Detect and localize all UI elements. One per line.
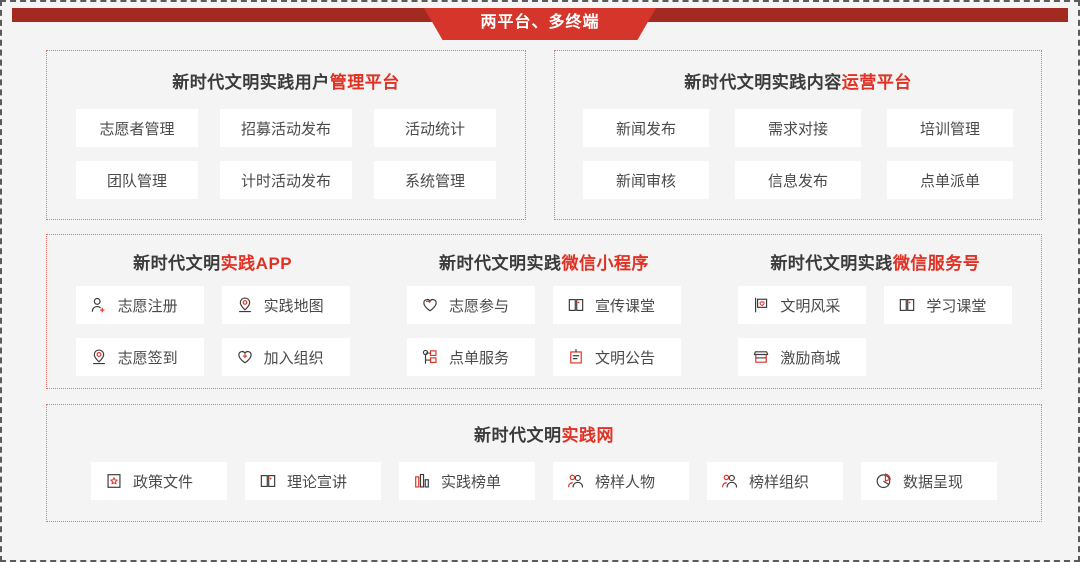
content-platform-tiles: 新闻发布 需求对接 培训管理 新闻审核 信息发布 点单派单 [555, 109, 1041, 199]
tile-label: 实践地图 [264, 295, 324, 316]
slot: 志愿签到 [76, 338, 204, 376]
tile-label: 文明风采 [780, 295, 840, 316]
tile-timed-activity-publish[interactable]: 计时活动发布 [220, 161, 352, 199]
tile-civilization-style[interactable]: 文明风采 [738, 286, 866, 324]
tile-row: 新闻审核 信息发布 点单派单 [555, 161, 1041, 199]
header-ribbon: 两平台、多终端 [424, 8, 656, 40]
tile-recruit-activity-publish[interactable]: 招募活动发布 [220, 109, 352, 147]
title-plain: 新时代文明实践内容 [684, 73, 842, 92]
title-plain: 新时代文明实践 [439, 254, 562, 273]
apps-headings: 新时代文明实践APP 新时代文明实践微信小程序 新时代文明实践微信服务号 [47, 249, 1041, 274]
tile-row: 志愿参与 宣传课堂 [407, 286, 681, 324]
title-plain: 新时代文明实践用户 [172, 73, 330, 92]
tile-row: 志愿注册 实践地图 [76, 286, 350, 324]
panel-user-platform: 新时代文明实践用户管理平台 志愿者管理 招募活动发布 活动统计 团队管理 计时活… [46, 50, 526, 220]
tile-label: 理论宣讲 [287, 471, 347, 492]
title-highlight: 运营平台 [842, 73, 912, 92]
slot: 文明风采 [738, 286, 866, 324]
tile-data-presentation[interactable]: 数据呈现 [861, 462, 997, 500]
tile-label: 实践榜单 [441, 471, 501, 492]
tile-role-model-organization[interactable]: 榜样组织 [707, 462, 843, 500]
flag-heart-icon [752, 296, 770, 314]
website-tiles: 政策文件 理论宣讲 实践榜单 榜样人物 [47, 462, 1041, 500]
tile-volunteer-register[interactable]: 志愿注册 [76, 286, 204, 324]
tile-label: 点单服务 [449, 347, 509, 368]
bar-chart-icon [413, 472, 431, 490]
tile-study-classroom[interactable]: 学习课堂 [884, 286, 1012, 324]
tile-news-review[interactable]: 新闻审核 [583, 161, 709, 199]
pie-chart-icon [875, 472, 893, 490]
two-people-icon [567, 472, 585, 490]
open-book-icon [567, 296, 585, 314]
tile-join-organization[interactable]: 加入组织 [222, 338, 350, 376]
title-plain: 新时代文明 [474, 426, 562, 445]
slot: 激励商城 [738, 338, 866, 376]
apps-heading-app: 新时代文明实践APP [47, 249, 378, 274]
apps-column-app: 志愿注册 实践地图 [47, 286, 378, 376]
location-check-icon [90, 348, 108, 366]
tile-label: 志愿签到 [118, 347, 178, 368]
panel-website: 新时代文明实践网 政策文件 理论宣讲 实践榜单 [46, 404, 1042, 522]
apps-column-miniprogram: 志愿参与 宣传课堂 [378, 286, 709, 376]
tile-label: 加入组织 [264, 347, 324, 368]
shop-icon [752, 348, 770, 366]
tile-label: 志愿参与 [449, 295, 509, 316]
tile-publicity-classroom[interactable]: 宣传课堂 [553, 286, 681, 324]
tile-row: 新闻发布 需求对接 培训管理 [555, 109, 1041, 147]
tile-incentive-mall[interactable]: 激励商城 [738, 338, 866, 376]
tile-practice-map[interactable]: 实践地图 [222, 286, 350, 324]
title-plain: 新时代文明实践 [770, 254, 893, 273]
tile-row: 文明风采 学习课堂 [738, 286, 1012, 324]
tile-demand-matching[interactable]: 需求对接 [735, 109, 861, 147]
header-title: 两平台、多终端 [480, 15, 599, 33]
panel-content-platform-title: 新时代文明实践内容运营平台 [555, 68, 1041, 93]
tile-row: 点单服务 文明公告 [407, 338, 681, 376]
tile-system-management[interactable]: 系统管理 [374, 161, 496, 199]
tile-practice-ranking[interactable]: 实践榜单 [399, 462, 535, 500]
tile-order-service[interactable]: 点单服务 [407, 338, 535, 376]
title-highlight: 微信小程序 [561, 254, 649, 273]
tile-row: 激励商城 [738, 338, 1012, 376]
two-people-icon [721, 472, 739, 490]
tile-activity-statistics[interactable]: 活动统计 [374, 109, 496, 147]
tile-policy-document[interactable]: 政策文件 [91, 462, 227, 500]
slot: 宣传课堂 [553, 286, 681, 324]
person-add-icon [90, 296, 108, 314]
tile-label: 学习课堂 [926, 295, 986, 316]
title-highlight: 实践网 [562, 426, 615, 445]
slot: 实践地图 [222, 286, 350, 324]
slot: 志愿参与 [407, 286, 535, 324]
tile-role-model-person[interactable]: 榜样人物 [553, 462, 689, 500]
title-highlight: 管理平台 [330, 73, 400, 92]
tile-label: 数据呈现 [903, 471, 963, 492]
tile-label: 志愿注册 [118, 295, 178, 316]
tile-information-publish[interactable]: 信息发布 [735, 161, 861, 199]
tile-news-publish[interactable]: 新闻发布 [583, 109, 709, 147]
apps-heading-miniprogram: 新时代文明实践微信小程序 [378, 249, 709, 274]
tile-label: 榜样人物 [595, 471, 655, 492]
tile-team-management[interactable]: 团队管理 [76, 161, 198, 199]
tile-theory-lecture[interactable]: 理论宣讲 [245, 462, 381, 500]
infographic-root: 两平台、多终端 新时代文明实践用户管理平台 志愿者管理 招募活动发布 活动统计 … [0, 0, 1080, 562]
panel-apps: 新时代文明实践APP 新时代文明实践微信小程序 新时代文明实践微信服务号 [46, 234, 1042, 389]
document-star-icon [105, 472, 123, 490]
tile-training-management[interactable]: 培训管理 [887, 109, 1013, 147]
panel-content-platform: 新时代文明实践内容运营平台 新闻发布 需求对接 培训管理 新闻审核 信息发布 点… [554, 50, 1042, 220]
slot: 文明公告 [553, 338, 681, 376]
location-pin-icon [236, 296, 254, 314]
tile-row: 团队管理 计时活动发布 系统管理 [47, 161, 525, 199]
title-plain: 新时代文明 [133, 254, 221, 273]
slot: 点单服务 [407, 338, 535, 376]
title-highlight: 实践APP [221, 254, 292, 273]
order-service-icon [421, 348, 439, 366]
user-platform-tiles: 志愿者管理 招募活动发布 活动统计 团队管理 计时活动发布 系统管理 [47, 109, 525, 199]
tile-row: 志愿者管理 招募活动发布 活动统计 [47, 109, 525, 147]
tile-volunteer-management[interactable]: 志愿者管理 [76, 109, 198, 147]
tile-order-dispatch[interactable]: 点单派单 [887, 161, 1013, 199]
title-highlight: 微信服务号 [893, 254, 981, 273]
notice-board-icon [567, 348, 585, 366]
apps-column-serviceaccount: 文明风采 学习课堂 [710, 286, 1041, 376]
heart-add-icon [236, 348, 254, 366]
heart-icon [421, 296, 439, 314]
tile-label: 宣传课堂 [595, 295, 655, 316]
slot: 志愿注册 [76, 286, 204, 324]
tile-row: 志愿签到 加入组织 [76, 338, 350, 376]
tile-volunteer-participate[interactable]: 志愿参与 [407, 286, 535, 324]
tile-label: 政策文件 [133, 471, 193, 492]
slot: 加入组织 [222, 338, 350, 376]
tile-volunteer-checkin[interactable]: 志愿签到 [76, 338, 204, 376]
tile-label: 榜样组织 [749, 471, 809, 492]
slot: 学习课堂 [884, 286, 1012, 324]
panel-website-title: 新时代文明实践网 [47, 421, 1041, 446]
open-book-icon [898, 296, 916, 314]
apps-grid: 志愿注册 实践地图 [47, 286, 1041, 376]
tile-label: 文明公告 [595, 347, 655, 368]
tile-label: 激励商城 [780, 347, 840, 368]
apps-heading-serviceaccount: 新时代文明实践微信服务号 [710, 249, 1041, 274]
slot-empty [884, 338, 1012, 376]
panel-user-platform-title: 新时代文明实践用户管理平台 [47, 68, 525, 93]
open-book-icon [259, 472, 277, 490]
tile-civilization-announcement[interactable]: 文明公告 [553, 338, 681, 376]
